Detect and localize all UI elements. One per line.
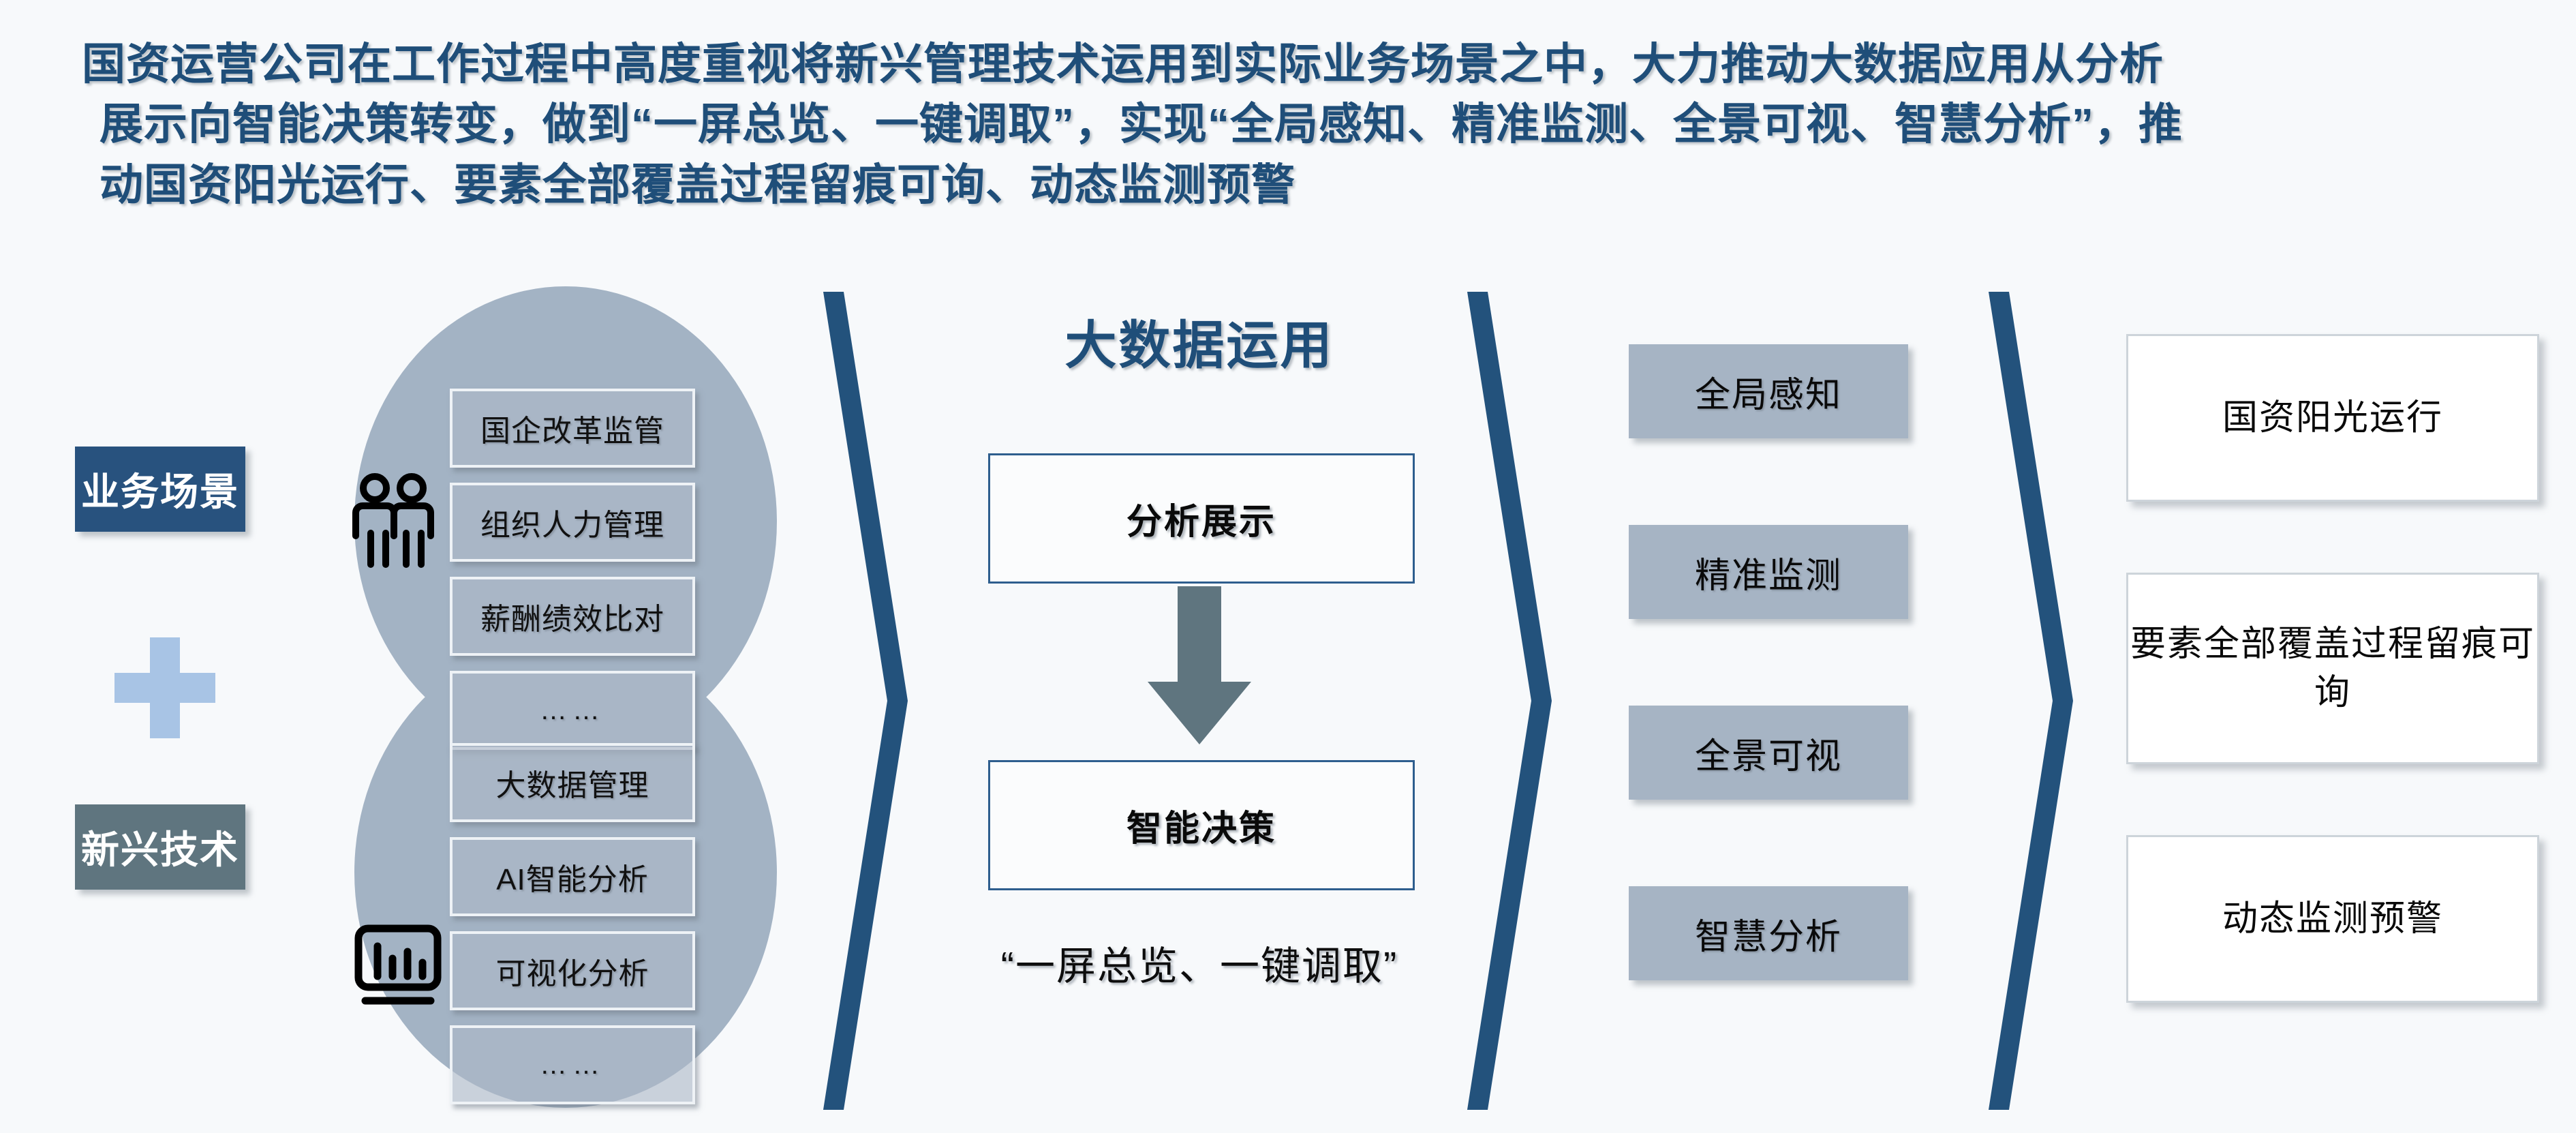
outcome-column: 国资阳光运行 要素全部覆盖过程留痕可询 动态监测预警 [2126,266,2549,1133]
plus-sign-icon [114,637,215,738]
page-title: 国资运营公司在工作过程中高度重视将新兴管理技术运用到实际业务场景之中，大力推动大… [82,34,2508,215]
list-item[interactable]: 薪酬绩效比对 [450,577,695,656]
capability-box[interactable]: 全景可视 [1629,706,1908,800]
list-item[interactable]: 国企改革监管 [450,389,695,468]
page-title-line-2: 展示向智能决策转变，做到“一屏总览、一键调取”，实现“全局感知、精准监测、全景可… [82,94,2508,154]
list-item[interactable]: AI智能分析 [450,837,695,916]
outcome-box[interactable]: 动态监测预警 [2126,835,2539,1003]
capability-label: 全景可视 [1695,727,1842,779]
list-item-label: 薪酬绩效比对 [480,594,664,638]
outcome-box[interactable]: 要素全部覆盖过程留痕可询 [2126,573,2539,764]
flow-step-analysis-display-label: 分析展示 [1126,493,1276,544]
list-item-label: …… [540,1050,605,1081]
center-section-title: 大数据运用 [940,303,1458,378]
flow-step-analysis-display[interactable]: 分析展示 [988,453,1415,584]
capability-label: 全局感知 [1695,366,1842,417]
page-title-line-3: 动国资阳光运行、要素全部覆盖过程留痕可询、动态监测预警 [82,155,2508,215]
left-label-column: 业务场景 新兴技术 [75,266,300,1133]
capability-column: 全局感知 精准监测 全景可视 智慧分析 [1629,266,1922,1133]
emerging-technology-item-list: 大数据管理 AI智能分析 可视化分析 …… [450,743,695,1119]
list-item[interactable]: 大数据管理 [450,743,695,822]
business-scenario-item-list: 国企改革监管 组织人力管理 薪酬绩效比对 …… [450,389,695,765]
list-item[interactable]: 组织人力管理 [450,483,695,562]
outcome-label: 要素全部覆盖过程留痕可询 [2128,620,2537,716]
capability-box[interactable]: 智慧分析 [1629,886,1908,980]
label-business-scenario: 业务场景 [75,447,245,532]
chevron-divider-3-icon [1969,292,2092,1110]
list-item-label: AI智能分析 [496,855,649,898]
list-item[interactable]: …… [450,1025,695,1104]
list-item[interactable]: …… [450,671,695,750]
outcome-box[interactable]: 国资阳光运行 [2126,334,2539,502]
ellipse-group: 国企改革监管 组织人力管理 薪酬绩效比对 …… 大数据管理 AI智能分析 可视化… [334,266,811,1133]
bar-chart-monitor-icon [350,913,446,1016]
label-business-scenario-text: 业务场景 [81,462,239,517]
label-emerging-technology: 新兴技术 [75,804,245,890]
people-icon [346,470,442,573]
list-item-label: 可视化分析 [496,949,649,993]
flow-step-intelligent-decision-label: 智能决策 [1126,800,1276,851]
list-item-label: 国企改革监管 [480,406,664,450]
outcome-label: 动态监测预警 [2222,895,2443,943]
center-flow: 大数据运用 分析展示 智能决策 “一屏总览、一键调取” [940,266,1458,1133]
flow-step-intelligent-decision[interactable]: 智能决策 [988,760,1415,890]
list-item-label: 大数据管理 [496,761,649,804]
list-item-label: …… [540,695,605,726]
capability-label: 智慧分析 [1695,908,1842,959]
label-emerging-technology-text: 新兴技术 [81,819,239,875]
diagram-stage: 业务场景 新兴技术 [0,266,2576,1133]
capability-box[interactable]: 精准监测 [1629,525,1908,619]
chevron-divider-2-icon [1448,292,1571,1110]
down-arrow-icon [1138,586,1261,746]
outcome-label: 国资阳光运行 [2222,394,2443,442]
list-item[interactable]: 可视化分析 [450,931,695,1010]
capability-label: 精准监测 [1695,547,1842,598]
page-title-line-1: 国资运营公司在工作过程中高度重视将新兴管理技术运用到实际业务场景之中，大力推动大… [82,34,2508,94]
list-item-label: 组织人力管理 [480,500,664,544]
capability-box[interactable]: 全局感知 [1629,344,1908,438]
center-quote: “一屏总览、一键调取” [940,934,1458,991]
chevron-divider-1-icon [804,292,927,1110]
